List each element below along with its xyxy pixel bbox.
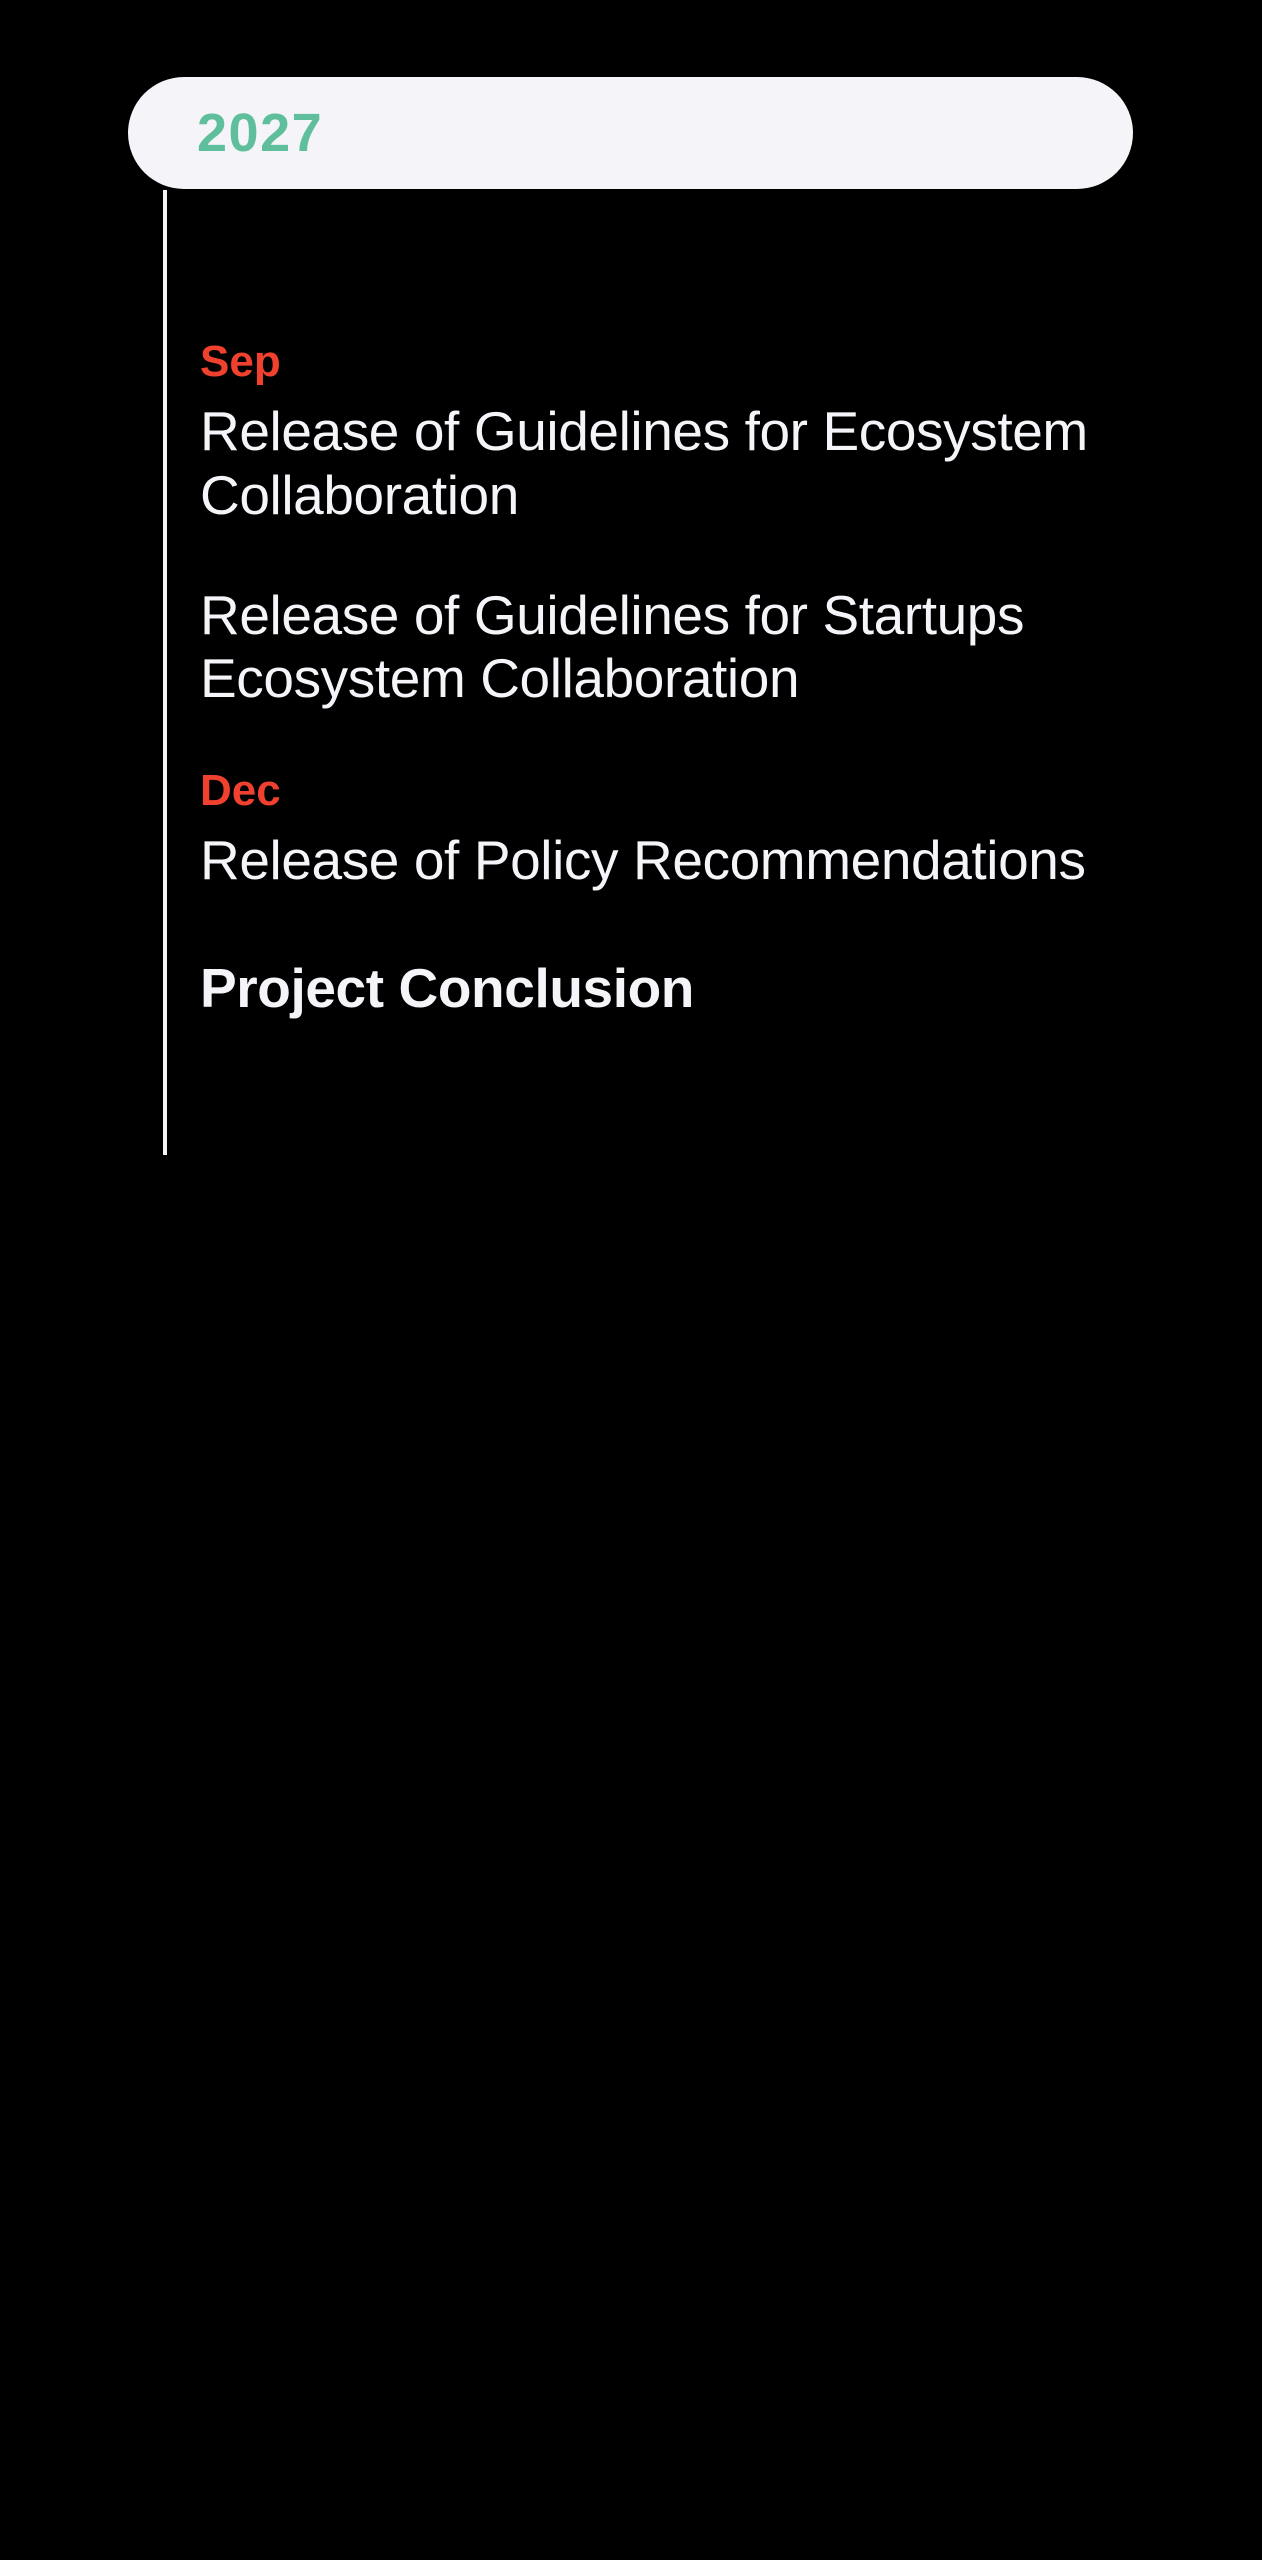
entry-spacer	[200, 554, 1210, 584]
year-badge[interactable]: 2027	[128, 77, 1133, 189]
entry-title-conclusion: Project Conclusion	[200, 957, 1190, 1021]
timeline-section-dec: Dec Release of Policy Recommendations Pr…	[200, 769, 1210, 1021]
timeline-section-sep: Sep Release of Guidelines for Ecosystem …	[200, 340, 1210, 711]
timeline-entry[interactable]: Release of Guidelines for Ecosystem Coll…	[200, 400, 1210, 528]
month-label-sep: Sep	[200, 340, 1210, 384]
entry-title: Release of Guidelines for Startups Ecosy…	[200, 584, 1190, 712]
timeline-root: 2027 Sep Release of Guidelines for Ecosy…	[0, 0, 1262, 2560]
entry-spacer	[200, 919, 1210, 957]
timeline-content: Sep Release of Guidelines for Ecosystem …	[200, 340, 1210, 1047]
timeline-rail	[163, 190, 167, 1155]
year-label: 2027	[197, 106, 323, 160]
timeline-entry[interactable]: Release of Guidelines for Startups Ecosy…	[200, 584, 1210, 712]
timeline-entry[interactable]: Release of Policy Recommendations	[200, 829, 1210, 893]
timeline-entry[interactable]: Project Conclusion	[200, 957, 1210, 1021]
entry-title: Release of Guidelines for Ecosystem Coll…	[200, 400, 1190, 528]
month-label-dec: Dec	[200, 769, 1210, 813]
entry-title: Release of Policy Recommendations	[200, 829, 1190, 893]
